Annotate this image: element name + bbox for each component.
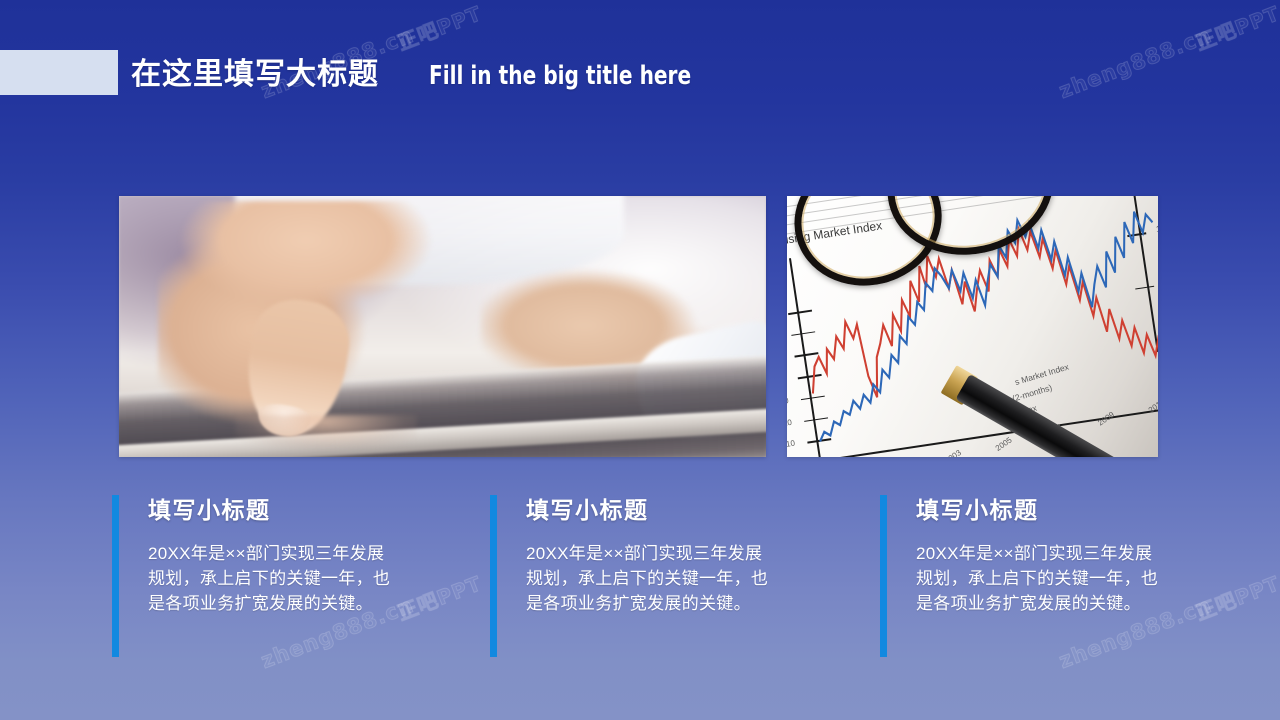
- page-subtitle: Fill in the big title here: [429, 59, 691, 93]
- content-column-1: 填写小标题 20XX年是××部门实现三年发展规划，承上启下的关键一年，也是各项业…: [112, 495, 442, 660]
- chart-y-tick-10: 10: [787, 439, 796, 449]
- chart-x-tick-2005: 2005: [994, 436, 1014, 453]
- column-heading-2: 填写小标题: [526, 495, 796, 525]
- header-accent-block: [0, 50, 118, 95]
- column-heading-1: 填写小标题: [148, 495, 418, 525]
- column-accent-bar-2: [490, 495, 497, 657]
- column-body-1: 填写小标题 20XX年是××部门实现三年发展规划，承上启下的关键一年，也是各项业…: [148, 495, 418, 616]
- hand-tablet-image: [119, 196, 766, 457]
- page-title: 在这里填写大标题: [131, 56, 379, 94]
- chart-x-tick-2003: 2003: [943, 448, 963, 457]
- chart-y-tick-30: 30: [787, 396, 789, 406]
- column-accent-bar-1: [112, 495, 119, 657]
- watermark-latin-1: zheng888.cn: [1056, 23, 1215, 103]
- content-column-3: 填写小标题 20XX年是××部门实现三年发展规划，承上启下的关键一年，也是各项业…: [880, 495, 1210, 660]
- column-body-2: 填写小标题 20XX年是××部门实现三年发展规划，承上启下的关键一年，也是各项业…: [526, 495, 796, 616]
- column-body-3: 填写小标题 20XX年是××部门实现三年发展规划，承上启下的关键一年，也是各项业…: [916, 495, 1186, 616]
- column-text-2: 20XX年是××部门实现三年发展规划，承上启下的关键一年，也是各项业务扩宽发展的…: [526, 541, 778, 616]
- column-accent-bar-3: [880, 495, 887, 657]
- content-column-2: 填写小标题 20XX年是××部门实现三年发展规划，承上启下的关键一年，也是各项业…: [490, 495, 820, 660]
- watermark-cn-1: 正吧PPT: [1191, 0, 1280, 56]
- column-text-1: 20XX年是××部门实现三年发展规划，承上启下的关键一年，也是各项业务扩宽发展的…: [148, 541, 400, 616]
- column-text-3: 20XX年是××部门实现三年发展规划，承上启下的关键一年，也是各项业务扩宽发展的…: [916, 541, 1168, 616]
- watermark-cn-2: 正吧PPT: [393, 0, 486, 56]
- chart-x-tick-2009: 2009: [1096, 410, 1116, 427]
- column-heading-3: 填写小标题: [916, 495, 1186, 525]
- chart-y-tick-20: 20: [787, 418, 792, 428]
- chart-y2-tick-1250: 1250: [1155, 222, 1158, 234]
- slide-canvas: 在这里填写大标题 Fill in the big title here t-te…: [0, 0, 1280, 720]
- tablet-photo-reflection: [235, 415, 416, 449]
- financial-chart-image: t-term indicato t-term indicato NAHB Hou…: [787, 196, 1158, 457]
